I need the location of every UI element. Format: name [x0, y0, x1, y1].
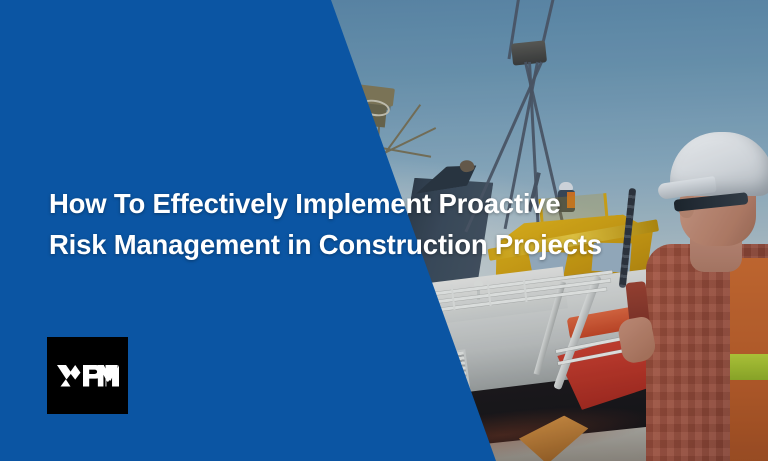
xpm-logo-icon	[57, 365, 119, 387]
headline-line-1: How To Effectively Implement Proactive	[49, 188, 560, 219]
banner-graphic: How To Effectively Implement Proactive R…	[0, 0, 768, 461]
brand-logo[interactable]	[47, 337, 128, 414]
page-title: How To Effectively Implement Proactive R…	[49, 183, 709, 265]
headline-line-2: Risk Management in Construction Projects	[49, 224, 709, 265]
